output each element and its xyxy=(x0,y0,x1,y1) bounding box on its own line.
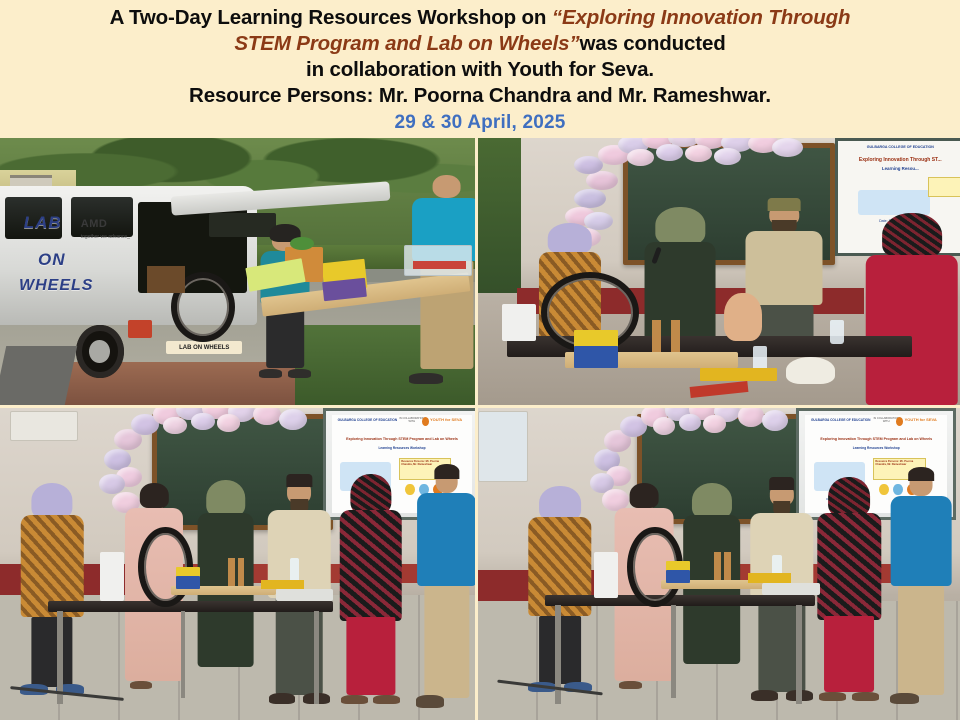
wooden-boxes xyxy=(147,266,185,293)
blue-model-box xyxy=(176,576,200,588)
person-kurta xyxy=(866,255,959,405)
human-torso-model xyxy=(724,293,763,341)
model-rod xyxy=(652,320,662,352)
banner-line-subtitle: Learning Resources Workshop xyxy=(811,446,942,450)
poster-line-college: GULBARGA COLLEGE OF EDUCATION xyxy=(845,145,955,149)
van-rear-plate: LAB ON WHEELS xyxy=(166,341,242,354)
poster-line-title: Exploring Innovation Through ST... xyxy=(845,157,955,163)
person-hijab xyxy=(32,483,73,519)
person-shoe-left xyxy=(409,373,444,383)
person-dupatta xyxy=(828,477,870,517)
balloon xyxy=(574,189,605,208)
person-shoe-right xyxy=(288,369,311,378)
person-trousers xyxy=(424,586,469,698)
table-leg xyxy=(671,605,676,699)
person-sandal-left xyxy=(269,693,296,705)
person-shoe-left xyxy=(416,695,444,707)
header-line-1: A Two-Day Learning Resources Workshop on… xyxy=(0,5,960,31)
van-rear-wheel xyxy=(76,325,124,378)
balloon xyxy=(738,408,764,427)
header-line-1-accent: “Exploring Innovation Through xyxy=(552,6,851,29)
balloon xyxy=(253,408,281,425)
person-tshirt xyxy=(891,496,952,586)
balloon xyxy=(586,171,617,190)
balloon xyxy=(714,148,741,165)
purple-model-box xyxy=(322,277,366,300)
wall-fixture xyxy=(10,411,79,441)
balloon xyxy=(99,474,125,494)
banner-line-subtitle: Learning Resources Workshop xyxy=(338,446,467,450)
person-tshirt xyxy=(417,493,475,585)
yellow-toolbox xyxy=(748,573,791,582)
box-contents xyxy=(413,261,465,269)
photo-grid: LAB ON WHEELS AMD together we advance_ L… xyxy=(0,138,960,720)
balloon xyxy=(627,149,654,166)
person-hijab xyxy=(547,223,592,254)
balloon xyxy=(772,138,803,157)
header-date: 29 & 30 April, 2025 xyxy=(0,109,960,136)
person-head xyxy=(432,175,461,198)
person-hair xyxy=(909,467,935,481)
person-participant-red-dupatta xyxy=(337,474,404,705)
model-rod xyxy=(238,558,245,586)
model-rod xyxy=(671,320,681,352)
banner-line-title: Exploring Innovation Through STEM Progra… xyxy=(811,437,942,441)
person-salwar xyxy=(346,617,395,695)
window-greenery xyxy=(478,138,521,293)
youth-for-seva-logo: YOUTH for SEVA xyxy=(905,417,937,422)
yellow-toolbox xyxy=(261,580,304,589)
person-dupatta xyxy=(882,213,942,259)
person-sandal xyxy=(130,681,152,689)
blue-model-box xyxy=(666,570,690,582)
person-hair xyxy=(630,483,659,508)
person-hair xyxy=(434,464,459,479)
person-volunteer-blue-tshirt xyxy=(413,464,475,707)
table-leg xyxy=(314,611,320,705)
seva-emblem-icon xyxy=(896,417,903,426)
person-cap xyxy=(769,477,795,490)
microscope xyxy=(502,304,536,341)
balloon xyxy=(217,414,241,431)
person-sandal xyxy=(619,681,642,689)
balloon xyxy=(191,413,215,430)
poster-resource-badge xyxy=(928,177,960,197)
header-line-4: Resource Persons: Mr. Poorna Chandra and… xyxy=(0,83,960,109)
van-text-on: ON xyxy=(38,250,66,270)
yellow-toolbox xyxy=(700,368,777,381)
person-top xyxy=(683,515,741,663)
balloon xyxy=(653,417,675,435)
balloon xyxy=(703,415,725,433)
table-leg xyxy=(181,611,186,698)
person-prayer-cap xyxy=(768,198,801,210)
balloon xyxy=(163,417,187,434)
skeleton-model xyxy=(786,357,834,384)
balloon xyxy=(685,145,712,162)
person-sandal-right xyxy=(373,695,400,704)
person-volunteer-blue-tshirt xyxy=(888,467,955,704)
person-kurta xyxy=(817,513,880,621)
workshop-poster: A Two-Day Learning Resources Workshop on… xyxy=(0,0,960,720)
header-line-2-accent: STEM Program and Lab on Wheels” xyxy=(234,32,579,55)
person-sandal-left xyxy=(751,690,778,701)
assorted-kits xyxy=(762,583,820,595)
person-trousers xyxy=(898,586,944,695)
header-line-2-plain: was conducted xyxy=(579,32,725,55)
person-sandal-right xyxy=(852,692,879,701)
tail-light xyxy=(128,320,152,339)
wall-chart xyxy=(478,411,528,482)
person-presenter-olive-hijab xyxy=(195,480,257,667)
header-line-1-plain: A Two-Day Learning Resources Workshop on xyxy=(110,6,552,29)
model-rod xyxy=(724,552,731,580)
person-participant-red-dupatta xyxy=(864,213,960,405)
person-sandal-left xyxy=(819,692,846,701)
display-table xyxy=(48,601,333,612)
youth-for-seva-logo: YOUTH for SEVA xyxy=(430,417,462,422)
poster-van-graphic xyxy=(858,190,931,215)
header-line-2: STEM Program and Lab on Wheels”was condu… xyxy=(0,31,960,57)
table-leg xyxy=(796,605,802,705)
model-rod xyxy=(228,558,235,586)
balloon xyxy=(679,414,701,432)
person-participant-lavender-hijab xyxy=(19,483,86,695)
person-hair xyxy=(140,483,168,508)
person-shoe-left xyxy=(890,693,918,705)
person-dupatta xyxy=(350,474,391,516)
van-side-window xyxy=(71,197,133,237)
person-hijab xyxy=(692,483,732,519)
person-hijab xyxy=(539,486,581,521)
assorted-kits xyxy=(276,589,333,601)
amd-tagline: together we advance_ xyxy=(81,234,130,240)
person-hijab xyxy=(656,207,705,244)
seva-emblem-icon xyxy=(422,417,429,426)
person-shoe-left xyxy=(259,369,282,378)
header-line-3: in collaboration with Youth for Seva. xyxy=(0,57,960,83)
model-rod xyxy=(714,552,721,580)
photo-top-left: LAB ON WHEELS AMD together we advance_ L… xyxy=(0,138,478,408)
balloon xyxy=(656,144,683,161)
van-text-lab: LAB xyxy=(24,213,62,233)
photo-top-right: GULBARGA COLLEGE OF EDUCATION Exploring … xyxy=(478,138,960,408)
person-participant-red-dupatta xyxy=(815,477,882,702)
van-text-wheels: WHEELS xyxy=(19,277,93,295)
person-trousers xyxy=(32,617,73,687)
person-shirt xyxy=(746,231,823,305)
balloon xyxy=(762,410,788,431)
display-table xyxy=(545,595,815,606)
person-kurta xyxy=(339,510,402,621)
model-tree xyxy=(290,237,314,250)
person-salwar xyxy=(824,616,874,692)
banner-line-title: Exploring Innovation Through STEM Progra… xyxy=(338,437,467,441)
water-bottle xyxy=(830,320,844,344)
poster-line-subtitle: Learning Resou... xyxy=(845,166,955,171)
balloon xyxy=(279,409,307,430)
microscope xyxy=(594,552,618,599)
photo-bottom-right: GULBARGA COLLEGE OF EDUCATION IN COLLABO… xyxy=(478,408,960,720)
photo-bottom-left: GULBARGA COLLEGE OF EDUCATION IN COLLABO… xyxy=(0,408,478,720)
person-hijab xyxy=(206,480,246,517)
poster-header: A Two-Day Learning Resources Workshop on… xyxy=(0,0,960,138)
person-cap xyxy=(287,474,312,488)
microscope xyxy=(100,552,124,602)
blue-model-box xyxy=(574,346,617,367)
amd-logo: AMD xyxy=(81,218,108,230)
person-sandal-left xyxy=(341,695,368,704)
foreground-chair xyxy=(0,346,77,405)
